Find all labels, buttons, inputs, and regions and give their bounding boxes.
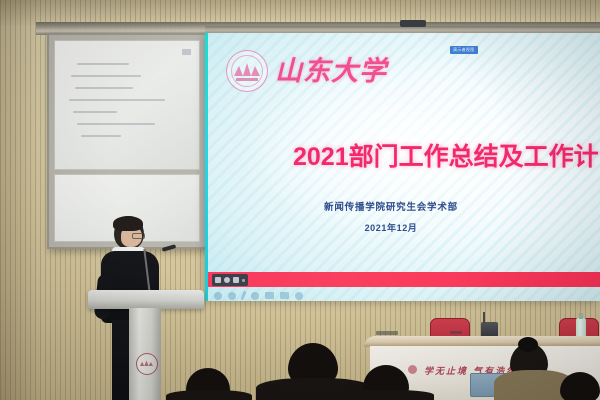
pen-icon: [483, 312, 485, 323]
desk-small-item: [450, 331, 462, 334]
projection-screen: 演示者视图 山东大学 2021部门工作总结及工作计 新闻传播学院研究生会学术部 …: [205, 33, 600, 301]
presenter-control-chip[interactable]: [212, 274, 248, 286]
slide-main-title: 2021部门工作总结及工作计: [293, 137, 599, 173]
red-seal-icon: [408, 365, 417, 374]
wall-left-shadow: [0, 0, 42, 400]
whiteboard-tag-icon: [182, 49, 191, 55]
university-name-calligraphy: 山东大学: [275, 58, 387, 85]
slide-branding: 山东大学: [226, 50, 387, 92]
next-slide-icon[interactable]: [228, 292, 236, 300]
slide-subtitle: 新闻传播学院研究生会学术部: [208, 199, 600, 213]
pen-icon[interactable]: [240, 291, 246, 300]
glasses-icon: [132, 233, 145, 239]
stop-icon[interactable]: [233, 277, 239, 283]
sdu-seal-icon: [136, 353, 158, 375]
mountain-glyph-icon: [234, 63, 260, 76]
audience-shoulders: [166, 390, 252, 400]
presenter-hair: [113, 216, 143, 231]
laser-pointer-icon[interactable]: [251, 292, 259, 300]
audience-shoulders: [342, 390, 434, 400]
grid-icon[interactable]: [215, 277, 221, 283]
notes-icon[interactable]: [280, 292, 289, 299]
sdu-emblem-icon: [226, 50, 268, 92]
notepad: [376, 331, 398, 335]
audience-hair-bun: [518, 337, 538, 352]
emblem-base: [236, 78, 258, 81]
gear-icon[interactable]: [224, 277, 230, 283]
slide-show-icon[interactable]: [265, 292, 274, 299]
presenter-view-badge: 演示者视图: [450, 46, 478, 54]
prev-slide-icon[interactable]: [214, 292, 222, 300]
slide-accent-bar: [208, 272, 600, 287]
slide-date: 2021年12月: [208, 221, 600, 234]
projector-sensor-icon: [400, 20, 426, 27]
presentation-room-photo: 演示者视图 山东大学 2021部门工作总结及工作计 新闻传播学院研究生会学术部 …: [0, 0, 600, 400]
lectern-top: [88, 290, 204, 309]
chevron-right-icon[interactable]: [242, 279, 245, 282]
slide-content: 演示者视图 山东大学 2021部门工作总结及工作计 新闻传播学院研究生会学术部 …: [208, 33, 600, 301]
more-options-icon[interactable]: [295, 292, 303, 300]
slide-show-toolbar[interactable]: [214, 291, 303, 300]
whiteboard-upper-panel: [54, 40, 200, 170]
